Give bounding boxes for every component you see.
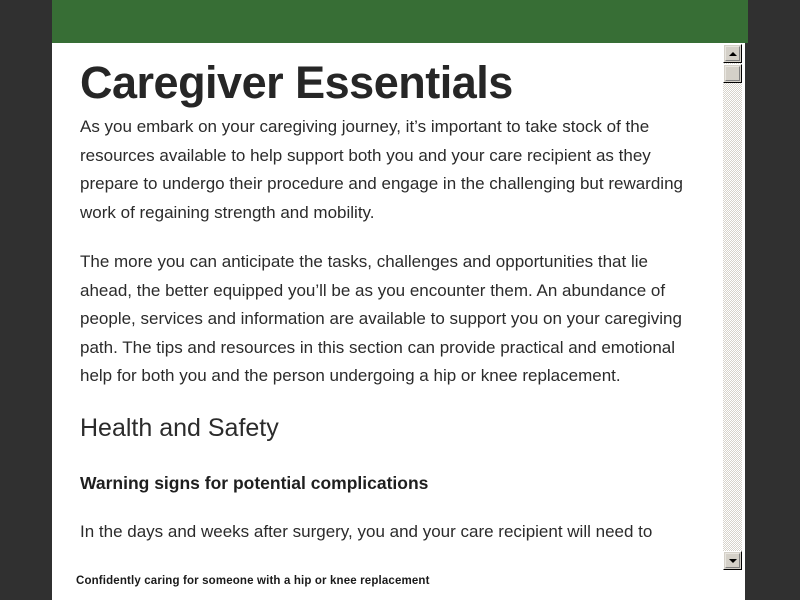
subsection-heading-warning-signs: Warning signs for potential complication… [80, 470, 694, 496]
scroll-up-button[interactable] [723, 44, 742, 63]
vertical-scrollbar[interactable] [722, 44, 743, 570]
document-scroll-viewport[interactable]: Caregiver Essentials As you embark on yo… [52, 43, 722, 570]
document-content: Caregiver Essentials As you embark on yo… [52, 43, 722, 567]
brand-banner [52, 0, 748, 43]
page-title: Caregiver Essentials [80, 43, 694, 113]
section-heading-health-and-safety: Health and Safety [80, 412, 694, 444]
app-root: Caregiver Essentials As you embark on yo… [0, 0, 800, 600]
intro-paragraph-2: The more you can anticipate the tasks, c… [80, 248, 690, 391]
scroll-down-button[interactable] [723, 551, 742, 570]
intro-paragraph-1: As you embark on your caregiving journey… [80, 113, 690, 227]
scrollbar-track[interactable] [723, 44, 742, 570]
triangle-down-icon [729, 559, 737, 563]
scroll-thumb[interactable] [723, 64, 742, 83]
footer-caption: Confidently caring for someone with a hi… [76, 574, 430, 588]
warning-signs-paragraph: In the days and weeks after surgery, you… [80, 518, 690, 547]
triangle-up-icon [729, 52, 737, 56]
